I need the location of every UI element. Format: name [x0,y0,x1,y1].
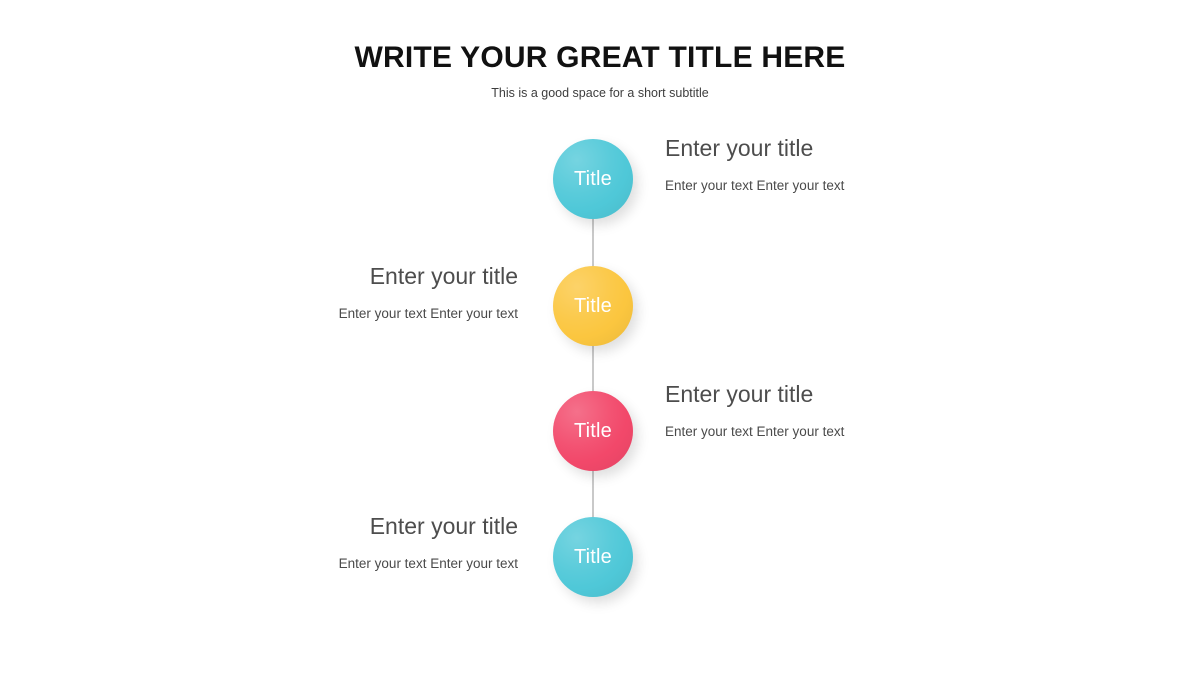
timeline-item-title: Enter your title [218,512,518,540]
slide-canvas: WRITE YOUR GREAT TITLE HERE This is a go… [0,0,1200,675]
timeline-connector-3-4 [592,471,594,517]
timeline-node-1[interactable]: Title [553,139,633,219]
timeline-node-4[interactable]: Title [553,517,633,597]
timeline-item-description: Enter your text Enter your text [218,554,518,573]
timeline-node-2[interactable]: Title [553,266,633,346]
timeline-item-title: Enter your title [665,380,965,408]
timeline-node-label: Title [574,421,612,441]
timeline-text-block-1: Enter your title Enter your text Enter y… [665,134,965,195]
timeline-text-block-3: Enter your title Enter your text Enter y… [665,380,965,441]
timeline-text-block-4: Enter your title Enter your text Enter y… [218,512,518,573]
timeline-text-block-2: Enter your title Enter your text Enter y… [218,262,518,323]
timeline-item-title: Enter your title [665,134,965,162]
timeline-node-label: Title [574,296,612,316]
timeline-node-label: Title [574,169,612,189]
timeline-node-label: Title [574,547,612,567]
timeline-connector-1-2 [592,219,594,266]
timeline-item-title: Enter your title [218,262,518,290]
vertical-timeline: Title Enter your title Enter your text E… [0,0,1200,675]
timeline-connector-2-3 [592,346,594,391]
timeline-node-3[interactable]: Title [553,391,633,471]
timeline-item-description: Enter your text Enter your text [665,422,965,441]
timeline-item-description: Enter your text Enter your text [218,304,518,323]
timeline-item-description: Enter your text Enter your text [665,176,965,195]
